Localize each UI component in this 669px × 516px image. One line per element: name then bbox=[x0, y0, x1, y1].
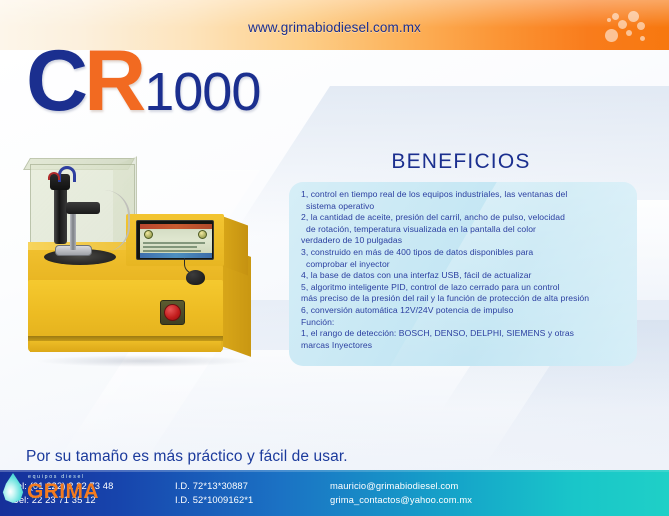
benefit-line: 6, conversión automática 12V/24V potenci… bbox=[301, 305, 627, 317]
grima-logo-name: GRIMA bbox=[27, 480, 99, 504]
benefit-line: 3, construido en más de 400 tipos de dat… bbox=[301, 247, 627, 259]
blue-hose bbox=[58, 166, 76, 182]
water-drop-icon bbox=[2, 473, 24, 503]
mouse-device bbox=[186, 270, 205, 285]
benefit-line: 1, control en tiempo real de los equipos… bbox=[301, 189, 627, 201]
display-gauge-icon bbox=[144, 230, 153, 239]
bubble-icon bbox=[612, 13, 619, 20]
logotype-letter-c: C bbox=[26, 33, 84, 129]
emergency-stop-button-icon bbox=[164, 304, 181, 321]
benefit-line: 2, la cantidad de aceite, presión del ca… bbox=[301, 212, 627, 224]
benefits-list: 1, control en tiempo real de los equipos… bbox=[301, 189, 627, 351]
footer-email-1[interactable]: mauricio@grimabiodiesel.com bbox=[330, 479, 472, 493]
red-hose bbox=[48, 172, 60, 180]
footer-bar: Tel: (01 222) 2 32 73 48 Cel: 22 23 71 3… bbox=[0, 470, 669, 516]
benefit-line: sistema operativo bbox=[301, 201, 627, 213]
display-surface bbox=[140, 224, 212, 258]
product-photo bbox=[8, 150, 278, 390]
machine-display-screen bbox=[136, 220, 214, 260]
benefit-line: marcas Inyectores bbox=[301, 340, 627, 352]
display-data-row bbox=[143, 246, 197, 248]
display-statusbar bbox=[140, 253, 212, 258]
bubble-icon bbox=[640, 36, 645, 41]
product-logotype: CR1000 bbox=[26, 38, 260, 124]
benefit-line: Función: bbox=[301, 317, 627, 329]
flyer-page: www.grimabiodiesel.com.mx CR1000 bbox=[0, 0, 669, 516]
benefit-line: 4, la base de datos con una interfaz USB… bbox=[301, 270, 627, 282]
display-data-row bbox=[143, 250, 201, 252]
injector-body bbox=[54, 186, 67, 244]
machine-base-foot bbox=[30, 341, 221, 352]
benefit-line: 5, algoritmo inteligente PID, control de… bbox=[301, 282, 627, 294]
control-panel-side bbox=[222, 216, 248, 275]
product-shadow bbox=[36, 355, 251, 367]
benefits-box: 1, control en tiempo real de los equipos… bbox=[289, 182, 637, 366]
footer-id-1: I.D. 72*13*30887 bbox=[175, 479, 253, 493]
logotype-model-number: 1000 bbox=[144, 62, 260, 122]
injector-clamp bbox=[66, 202, 100, 214]
footer-emails: mauricio@grimabiodiesel.com grima_contac… bbox=[330, 479, 472, 507]
benefits-title: BENEFICIOS bbox=[285, 150, 637, 174]
benefit-line: de rotación, temperatura visualizada en … bbox=[301, 224, 627, 236]
footer-email-2[interactable]: grima_contactos@yahoo.com.mx bbox=[330, 493, 472, 507]
display-data-row bbox=[143, 242, 205, 244]
footer-top-divider bbox=[0, 470, 669, 472]
benefit-line: comprobar el inyector bbox=[301, 259, 627, 271]
tagline: Por su tamaño es más práctico y fácil de… bbox=[26, 448, 348, 466]
benefit-line: más preciso de la presión del rail y la … bbox=[301, 293, 627, 305]
benefit-line: verdadero de 10 pulgadas bbox=[301, 235, 627, 247]
display-titlebar bbox=[140, 224, 212, 229]
benefit-line: 1, el rango de detección: BOSCH, DENSO, … bbox=[301, 328, 627, 340]
footer-ids: I.D. 72*13*30887 I.D. 52*1009162*1 bbox=[175, 479, 253, 507]
display-gauge-icon bbox=[198, 230, 207, 239]
logotype-letter-r: R bbox=[84, 33, 144, 129]
footer-id-2: I.D. 52*1009162*1 bbox=[175, 493, 253, 507]
